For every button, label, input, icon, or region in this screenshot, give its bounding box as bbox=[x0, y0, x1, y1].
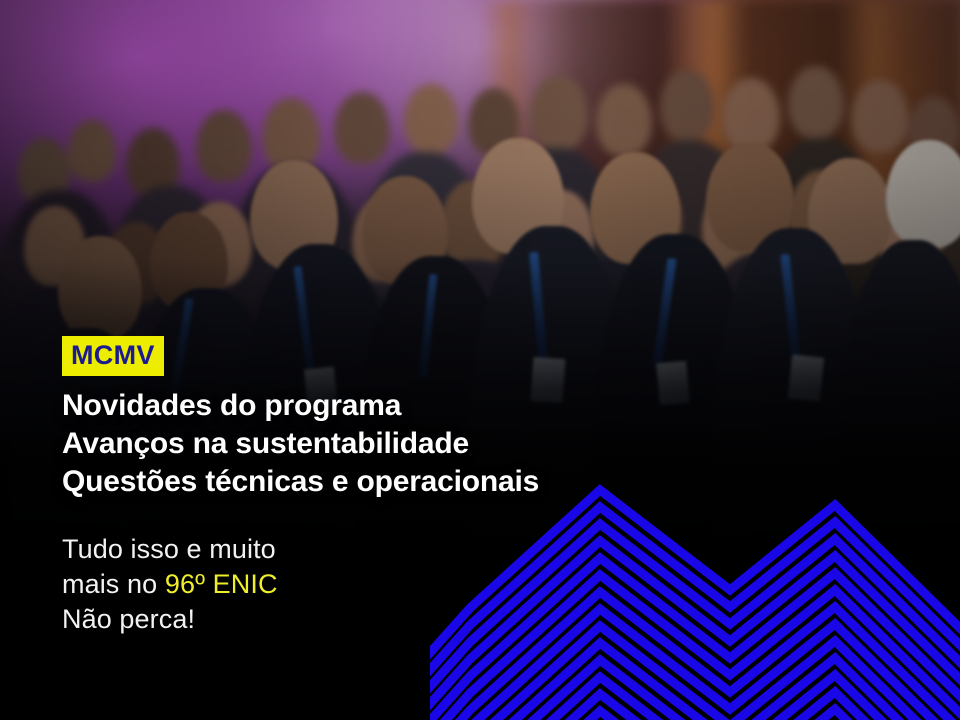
subcopy-line-1: Tudo isso e muito bbox=[62, 532, 682, 567]
subcopy: Tudo isso e muito mais no 96º ENIC Não p… bbox=[62, 532, 682, 637]
mcmv-badge: MCMV bbox=[62, 336, 164, 376]
headline-line-1: Novidades do programa bbox=[62, 387, 682, 425]
headline-line-3: Questões técnicas e operacionais bbox=[62, 463, 682, 501]
headline-line-2: Avanços na sustentabilidade bbox=[62, 425, 682, 463]
poster-copy: MCMV Novidades do programa Avanços na su… bbox=[62, 336, 682, 637]
enic-highlight: 96º ENIC bbox=[165, 569, 278, 599]
subcopy-line-2: mais no 96º ENIC bbox=[62, 567, 682, 602]
headline: Novidades do programa Avanços na sustent… bbox=[62, 387, 682, 501]
subcopy-line-2-prefix: mais no bbox=[62, 569, 165, 599]
subcopy-line-3: Não perca! bbox=[62, 602, 682, 637]
promotional-poster: MCMV Novidades do programa Avanços na su… bbox=[0, 0, 960, 720]
